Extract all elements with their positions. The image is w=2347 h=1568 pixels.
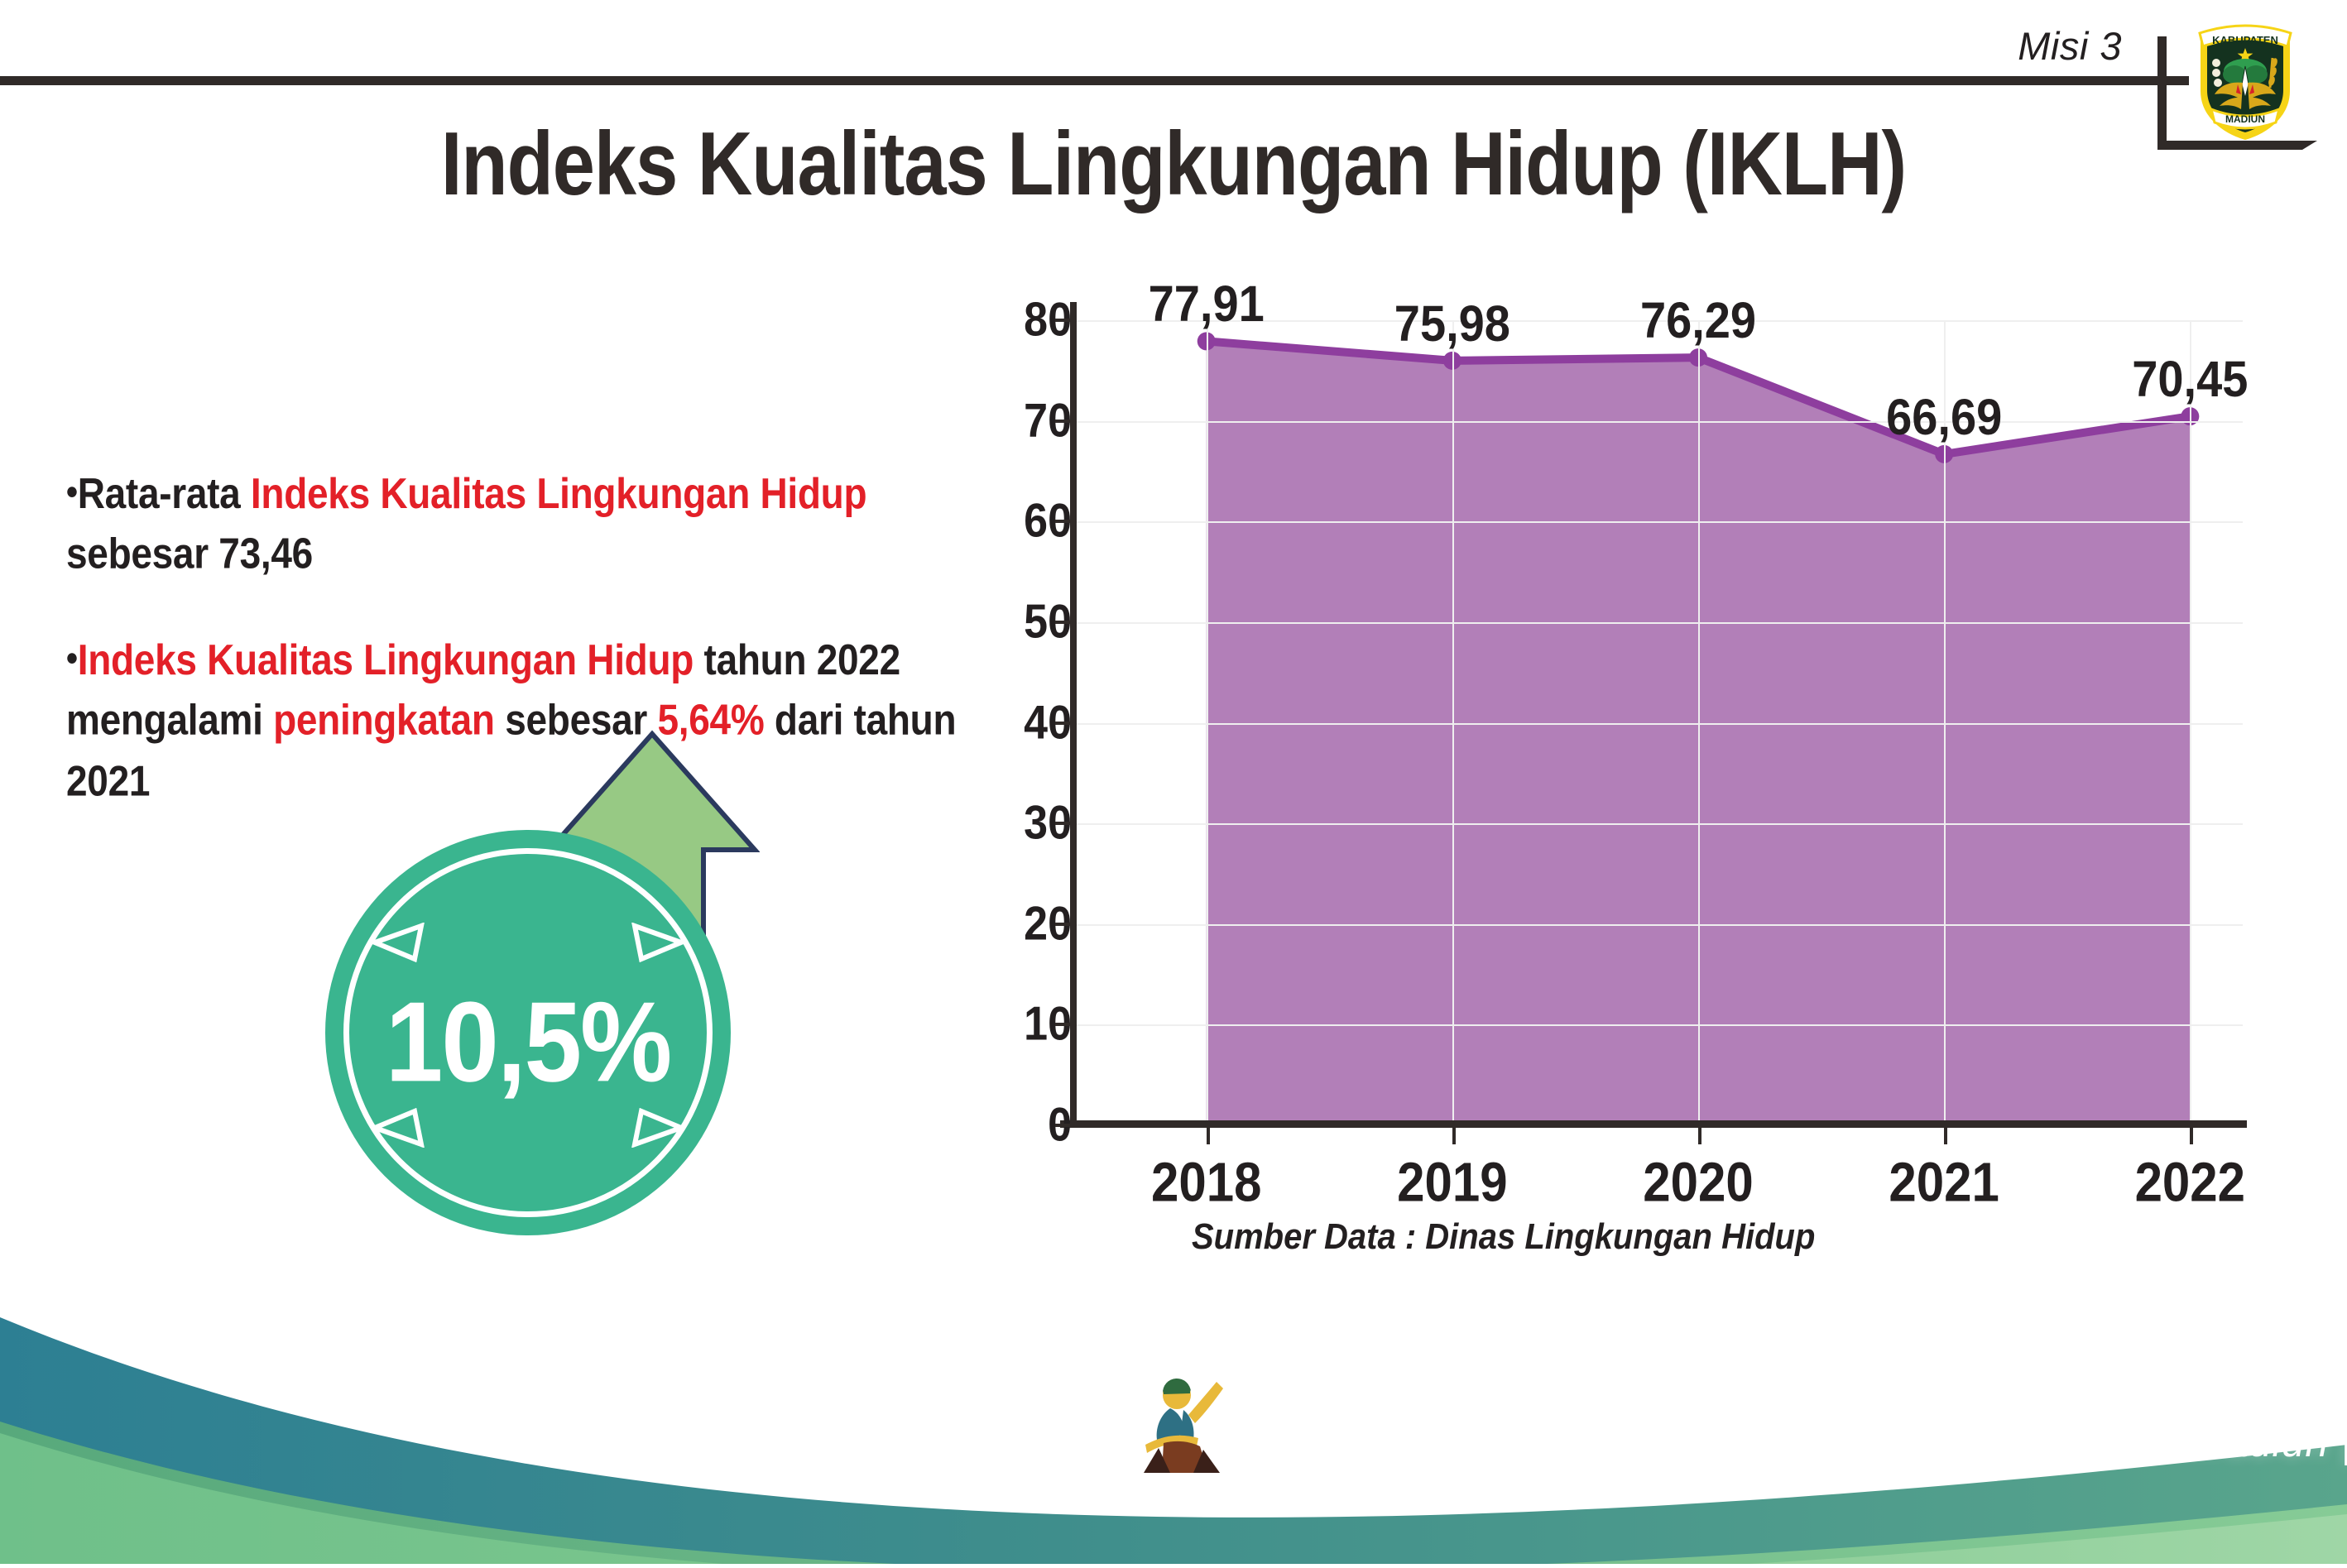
chart-x-tick-mark (1452, 1126, 1456, 1144)
chart-vertical-gridline (2190, 320, 2191, 1125)
badge-triangle-bottom-right-icon (630, 1108, 684, 1148)
badge-triangle-bottom-left-icon (372, 1108, 426, 1148)
bullet-item: •Indeks Kualitas Lingkungan Hidup tahun … (66, 630, 960, 811)
page-title: Indeks Kualitas Lingkungan Hidup (IKLH) (0, 113, 2347, 216)
header-divider (0, 76, 2189, 85)
chart-y-tick-label: 40 (948, 696, 1072, 750)
chart-value-label: 66,69 (1836, 387, 2052, 447)
chart-gridline (1072, 1024, 2243, 1026)
chart-y-tick-mark (1055, 1124, 1070, 1127)
chart-gridline (1072, 521, 2243, 523)
chart-value-label: 76,29 (1591, 290, 1806, 350)
media-infografis-figure-icon (1140, 1364, 1231, 1488)
chart-y-tick-label: 70 (948, 394, 1072, 448)
footer-text: Media Infografis Data Statistik Sektoral… (1233, 1418, 2347, 1466)
bullet-dot-icon: • (66, 638, 78, 679)
chart-x-axis (1060, 1120, 2247, 1128)
badge-triangle-top-right-icon (630, 923, 684, 962)
chart-y-tick-label: 20 (948, 897, 1072, 952)
chart-x-tick-label: 2022 (2099, 1150, 2281, 1214)
chart-y-tick-mark (1055, 319, 1070, 322)
chart-y-tick-label: 50 (948, 595, 1072, 650)
badge-triangle-top-left-icon (372, 923, 426, 962)
chart-value-label: 75,98 (1345, 294, 1560, 353)
chart-y-tick-mark (1055, 520, 1070, 523)
mission-label: Misi 3 (2018, 23, 2122, 69)
chart-y-tick-mark (1055, 420, 1070, 423)
logo-top-banner-text: KABUPATEN (2212, 34, 2278, 46)
bullet-highlight-text: Indeks Kualitas Lingkungan Hidup (78, 635, 694, 683)
bullet-text: sebesar 73,46 (66, 530, 313, 578)
chart-gridline (1072, 421, 2243, 423)
iklh-area-chart: 0102030405060708077,9175,9876,2966,6970,… (981, 302, 2247, 1179)
bullet-item: •Rata-rata Indeks Kualitas Lingkungan Hi… (66, 463, 960, 584)
chart-x-tick-mark (1944, 1126, 1947, 1144)
bullet-highlight-text: peningkatan (273, 695, 495, 743)
chart-vertical-gridline (1698, 320, 1700, 1125)
chart-y-tick-label: 30 (948, 796, 1072, 851)
chart-y-tick-label: 80 (948, 293, 1072, 348)
chart-gridline (1072, 823, 2243, 825)
bullet-dot-icon: • (66, 472, 78, 512)
chart-y-tick-mark (1055, 822, 1070, 825)
chart-y-tick-mark (1055, 1023, 1070, 1026)
chart-y-tick-mark (1055, 923, 1070, 926)
chart-x-tick-mark (2190, 1126, 2193, 1144)
chart-vertical-gridline (1452, 320, 1454, 1125)
summary-bullets: •Rata-rata Indeks Kualitas Lingkungan Hi… (66, 463, 960, 792)
chart-x-tick-label: 2020 (1607, 1150, 1789, 1214)
chart-x-tick-label: 2018 (1116, 1150, 1298, 1214)
bullet-text: Rata-rata (78, 469, 251, 517)
chart-gridline (1072, 723, 2243, 725)
chart-y-tick-label: 10 (948, 997, 1072, 1052)
chart-y-tick-mark (1055, 722, 1070, 725)
source-note: Sumber Data : Dinas Lingkungan Hidup (1192, 1217, 1815, 1258)
growth-badge: 10,5% (325, 830, 731, 1235)
chart-value-label: 77,91 (1099, 274, 1314, 333)
badge-value: 10,5% (325, 977, 731, 1107)
chart-x-tick-label: 2021 (1853, 1150, 2035, 1214)
chart-y-tick-mark (1055, 621, 1070, 624)
chart-vertical-gridline (1207, 320, 1208, 1125)
chart-plot-area (1072, 320, 2243, 1125)
chart-gridline (1072, 622, 2243, 624)
chart-y-tick-label: 60 (948, 494, 1072, 549)
chart-y-tick-label: 0 (948, 1098, 1072, 1153)
chart-x-tick-label: 2019 (1361, 1150, 1543, 1214)
bullet-highlight-text: Indeks Kualitas Lingkungan Hidup (251, 469, 866, 517)
chart-gridline (1072, 924, 2243, 926)
chart-x-tick-mark (1698, 1126, 1701, 1144)
chart-value-label: 70,45 (2082, 349, 2297, 409)
chart-x-tick-mark (1207, 1126, 1210, 1144)
